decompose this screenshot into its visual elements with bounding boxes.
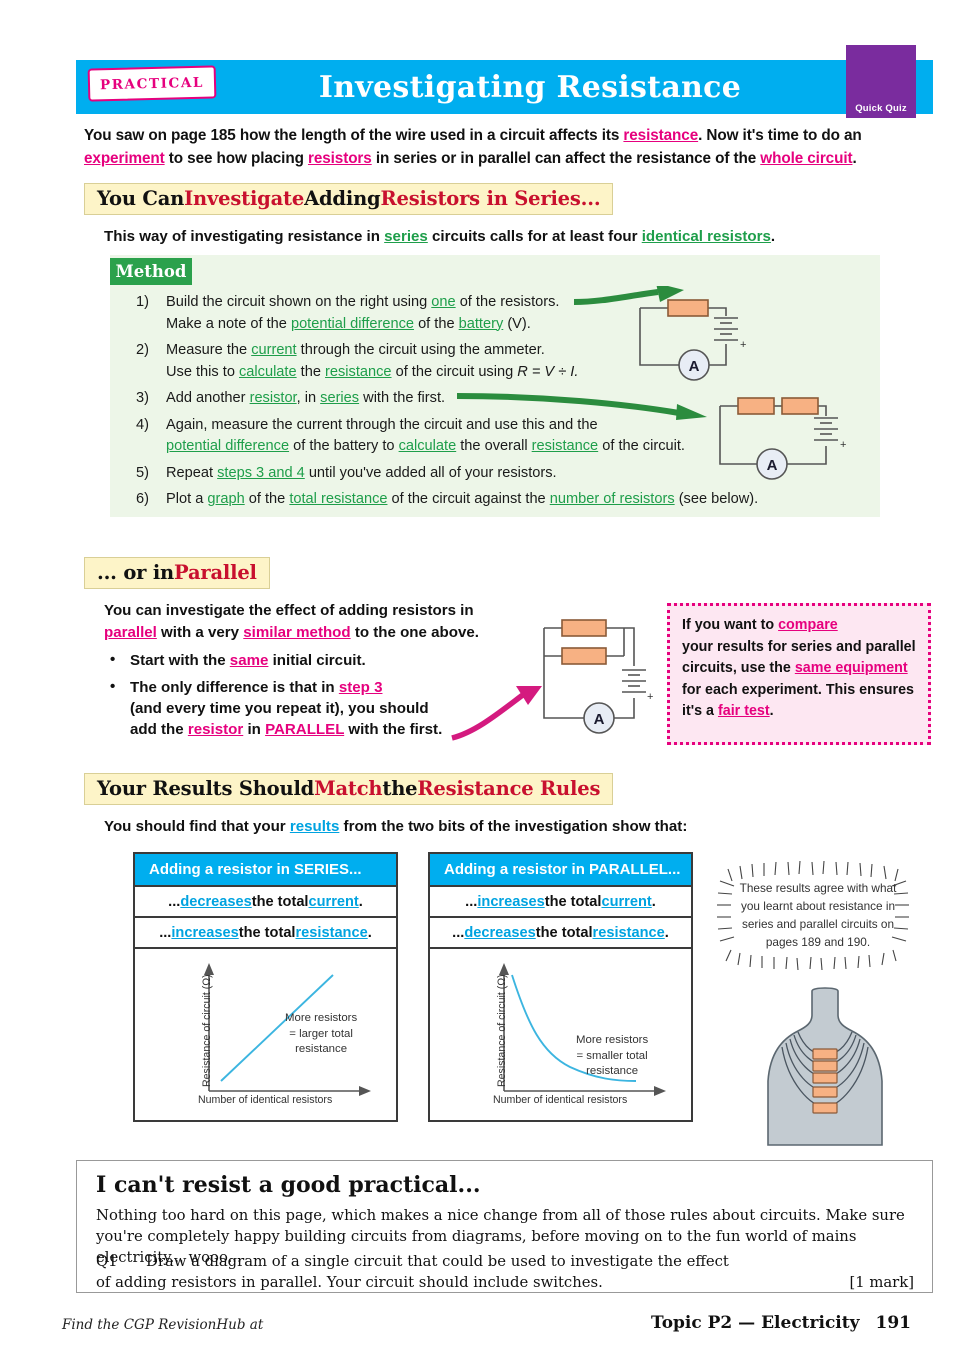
step5-a: Repeat [166,465,217,481]
parallel-graph: Resistance of circuit (Ω) Number of iden… [430,949,691,1120]
link-calculate: calculate [239,364,297,380]
results-card-line-2: ...increases the total resistance. [135,918,396,949]
fair-test-tip-box: If you want to compare your results for … [667,603,931,745]
sc-l1b: the total [252,894,309,910]
results-card-series: Adding a resistor in SERIES... ...decrea… [133,852,398,1122]
link-PARALLEL: PARALLEL [265,721,344,738]
question-marks: [1 mark] [849,1272,914,1293]
step6-a: Plot a [166,491,207,507]
series-heading-red1: Investigate [184,187,304,210]
quick-quiz-tab[interactable]: Quick Quiz [846,45,916,118]
step-number: 2) [136,340,166,383]
step4-c: the overall [456,438,531,454]
series-x-axis-label: Number of identical resistors [198,1094,332,1106]
bullet1-a: Start with the [130,652,230,669]
intro-text-1: You saw on page 185 how the length of th… [84,127,623,144]
intro-text-4: in series or in parallel can affect the … [372,150,761,167]
series-graph-annotation: More resistors = larger total resistance [285,1011,357,1058]
parallel-x-axis-label: Number of identical resistors [493,1094,627,1106]
step-number: 6) [136,489,166,511]
results-card-parallel: Adding a resistor in PARALLEL... ...incr… [428,852,693,1122]
results-heading-red1: Match [314,777,382,800]
footer-topic: Topic P2 — Electricity [651,1313,860,1333]
results-card-line-1: ...increases the total current. [430,887,691,918]
link-resistor-parallel: resistor [188,721,243,738]
series-circuit-diagram-single: + A [626,282,761,387]
pc-l1b: the total [545,894,602,910]
link-current-series: current [309,894,359,910]
parallel-graph-svg [430,949,691,1115]
link-graph: graph [207,491,244,507]
parallel-section-heading: ... or in Parallel [84,557,270,589]
battery-plus-terminal: + [647,691,653,703]
step4-b: of the battery to [289,438,399,454]
step-text: Measure the current through the circuit … [166,340,876,383]
page-title: Investigating Resistance [230,62,830,112]
bullet2-c: add the [130,721,188,738]
link-results: results [290,818,340,835]
results-lead-a: You should find that your [104,818,290,835]
series-section-heading: You Can Investigate Adding Resistors in … [84,183,613,215]
series-annot-line-2: = larger total [285,1027,357,1043]
link-compare: compare [778,617,838,633]
resistor-pendant [813,1073,837,1083]
series-heading-part2: Adding [304,187,380,210]
link-whole-circuit: whole circuit [760,150,852,167]
practical-badge-label: PRACTICAL [100,74,204,93]
sunburst-note-text: These results agree with what you learnt… [718,862,918,967]
ammeter-label: A [594,711,605,728]
textbook-page: Quick Quiz PRACTICAL Investigating Resis… [0,0,961,1360]
results-lead-b: from the two bits of the investigation s… [339,818,687,835]
pc-l2b: the total [536,925,593,941]
link-resistance-2: resistance [325,364,392,380]
link-resistors: resistors [308,150,372,167]
revision-box-title: I can't resist a good practical... [96,1172,481,1198]
parallel-annot-line-3: resistance [576,1064,648,1080]
link-experiment: experiment [84,150,165,167]
link-parallel: parallel [104,624,157,641]
step-number: 3) [136,388,166,410]
battery-plus-terminal: + [740,339,746,351]
step-number: 5) [136,463,166,485]
resistor-symbol [738,398,774,414]
link-identical-resistors: identical resistors [642,228,771,245]
series-lead-a: This way of investigating resistance in [104,228,384,245]
link-resistor: resistor [250,390,297,406]
resistor-symbol [668,300,708,316]
bullet2-e: with the first. [344,721,442,738]
practical-badge: PRACTICAL [88,65,217,101]
revision-question-row: Q1 Draw a diagram of a single circuit th… [96,1251,914,1293]
intro-text-2: . Now it's time to do an [698,127,862,144]
step3-a: Add another [166,390,250,406]
link-total-resistance: total resistance [289,491,387,507]
series-y-axis-label: Resistance of circuit (Ω) [201,974,213,1087]
link-decreases: decreases [180,894,251,910]
resistor-pendant [813,1103,837,1113]
step3-c: with the first. [359,390,445,406]
method-step-1: 1) Build the circuit shown on the right … [136,292,876,335]
link-same: same [230,652,269,669]
step5-b: until you've added all of your resistors… [305,465,557,481]
series-lead-c: . [771,228,775,245]
results-card-line-2: ...decreases the total resistance. [430,918,691,949]
method-tag: Method [110,258,192,285]
step1-e: (V). [503,316,531,332]
series-circuit-diagram-two: + A [706,384,866,489]
tip-a: If you want to [682,617,778,633]
resistor-symbol [562,620,606,636]
link-calculate-2: calculate [399,438,457,454]
sc-l2c: . [368,925,372,941]
link-same-equipment: same equipment [795,660,908,676]
quick-quiz-label: Quick Quiz [855,103,907,114]
link-battery: battery [459,316,504,332]
link-similar-method: similar method [243,624,350,641]
necklace-mannequin-illustration [760,985,890,1150]
step2-c: Use this to [166,364,239,380]
step-number: 1) [136,292,166,335]
arrow-to-series-circuit-2 [455,386,715,422]
step6-b: of the [245,491,290,507]
resistor-symbol [782,398,818,414]
pc-l2a: ... [452,925,464,941]
bullet2-b: (and every time you repeat it), you shou… [130,700,429,717]
resistor-pendant [813,1049,837,1059]
step2-a: Measure the [166,342,251,358]
step-number: 4) [136,415,166,458]
footer-left-text: Find the CGP RevisionHub at [62,1317,263,1333]
series-lead-text: This way of investigating resistance in … [104,228,775,245]
results-heading-part1: Your Results Should [97,777,314,800]
ammeter-label: A [689,358,700,375]
resistor-symbol [562,648,606,664]
step1-d: of the [414,316,459,332]
link-series-2: series [320,390,359,406]
step2-b: through the circuit using the ammeter. [297,342,545,358]
link-resistance: resistance [623,127,698,144]
parallel-graph-annotation: More resistors = smaller total resistanc… [576,1033,648,1080]
sc-l2a: ... [159,925,171,941]
link-step-3: step 3 [339,679,383,696]
parallel-y-axis-label: Resistance of circuit (Ω) [496,974,508,1087]
step3-b: , in [297,390,321,406]
series-heading-red2: Resistors in Series... [380,187,600,210]
link-decreases-parallel: decreases [464,925,535,941]
ammeter-label: A [767,457,778,474]
resistor-pendant [813,1061,837,1071]
series-heading-part1: You Can [97,187,184,210]
pc-l1a: ... [465,894,477,910]
pc-l2c: . [665,925,669,941]
parallel-heading-part1: ... or in [97,561,174,584]
intro-paragraph: You saw on page 185 how the length of th… [84,124,929,170]
link-current-parallel: current [601,894,651,910]
question-line-2: of adding resistors in parallel. Your ci… [96,1274,603,1291]
bullet2-d: in [243,721,265,738]
parallel-heading-red: Parallel [174,561,257,584]
parallel-annot-line-2: = smaller total [576,1049,648,1065]
sc-l1a: ... [168,894,180,910]
series-annot-line-3: resistance [285,1042,357,1058]
results-lead-text: You should find that your results from t… [104,818,804,835]
step1-c: Make a note of the [166,316,291,332]
parallel-body-a: You can investigate the effect of adding… [104,602,474,619]
step2-e: of the circuit using [392,364,518,380]
link-steps-3-and-4: steps 3 and 4 [217,465,305,481]
link-increases-parallel: increases [477,894,544,910]
link-current: current [251,342,296,358]
step-text: Plot a graph of the total resistance of … [166,489,876,511]
method-label: Method [116,262,187,281]
link-resistance-3: resistance [532,438,599,454]
link-potential-difference: potential difference [291,316,414,332]
formula-r-equals-v-over-i: R = V ÷ I. [517,364,578,380]
step6-d: (see below). [675,491,759,507]
link-number-of-resistors: number of resistors [550,491,675,507]
link-increases: increases [171,925,238,941]
intro-text-5: . [852,150,856,167]
tip-d: . [770,703,774,719]
step1-a: Build the circuit shown on the right usi… [166,294,431,310]
pc-l1c: . [652,894,656,910]
parallel-body-b: with a very [157,624,243,641]
link-series: series [384,228,428,245]
question-text: Draw a diagram of a single circuit that … [96,1253,729,1291]
results-heading-part2: the [382,777,417,800]
method-step-2: 2) Measure the current through the circu… [136,340,876,383]
link-potential-difference-2: potential difference [166,438,289,454]
question-line-1: Draw a diagram of a single circuit that … [146,1253,729,1270]
parallel-circuit-diagram: + A [534,608,659,738]
link-fair-test: fair test [718,703,770,719]
step4-d: of the circuit. [598,438,685,454]
results-section-heading: Your Results Should Match the Resistance… [84,773,613,805]
step-text: Build the circuit shown on the right usi… [166,292,876,335]
tip-c: for each experiment. This ensures it's a [682,682,914,720]
series-lead-b: circuits calls for at least four [428,228,642,245]
results-card-caption: Adding a resistor in SERIES... [135,854,396,887]
link-resistance-series: resistance [296,925,368,941]
question-number: Q1 [96,1251,118,1272]
link-one: one [431,294,455,310]
step2-d: the [297,364,325,380]
series-annot-line-1: More resistors [285,1011,357,1027]
battery-plus-terminal: + [840,439,846,451]
footer-right: Topic P2 — Electricity191 [651,1313,911,1333]
step6-c: of the circuit against the [387,491,549,507]
results-card-caption: Adding a resistor in PARALLEL... [430,854,691,887]
series-graph: Resistance of circuit (Ω) Number of iden… [135,949,396,1120]
results-heading-red2: Resistance Rules [417,777,600,800]
footer-page-number: 191 [876,1313,912,1333]
results-card-line-1: ...decreases the total current. [135,887,396,918]
sc-l2b: the total [239,925,296,941]
parallel-annot-line-1: More resistors [576,1033,648,1049]
step1-b: of the resistors. [456,294,560,310]
parallel-body-c: to the one above. [351,624,479,641]
sc-l1c: . [359,894,363,910]
bullet2-a: The only difference is that in [130,679,339,696]
method-step-6: 6) Plot a graph of the total resistance … [136,489,876,511]
bullet1-b: initial circuit. [268,652,365,669]
intro-text-3: to see how placing [165,150,308,167]
resistor-pendant [813,1087,837,1097]
link-resistance-parallel: resistance [593,925,665,941]
